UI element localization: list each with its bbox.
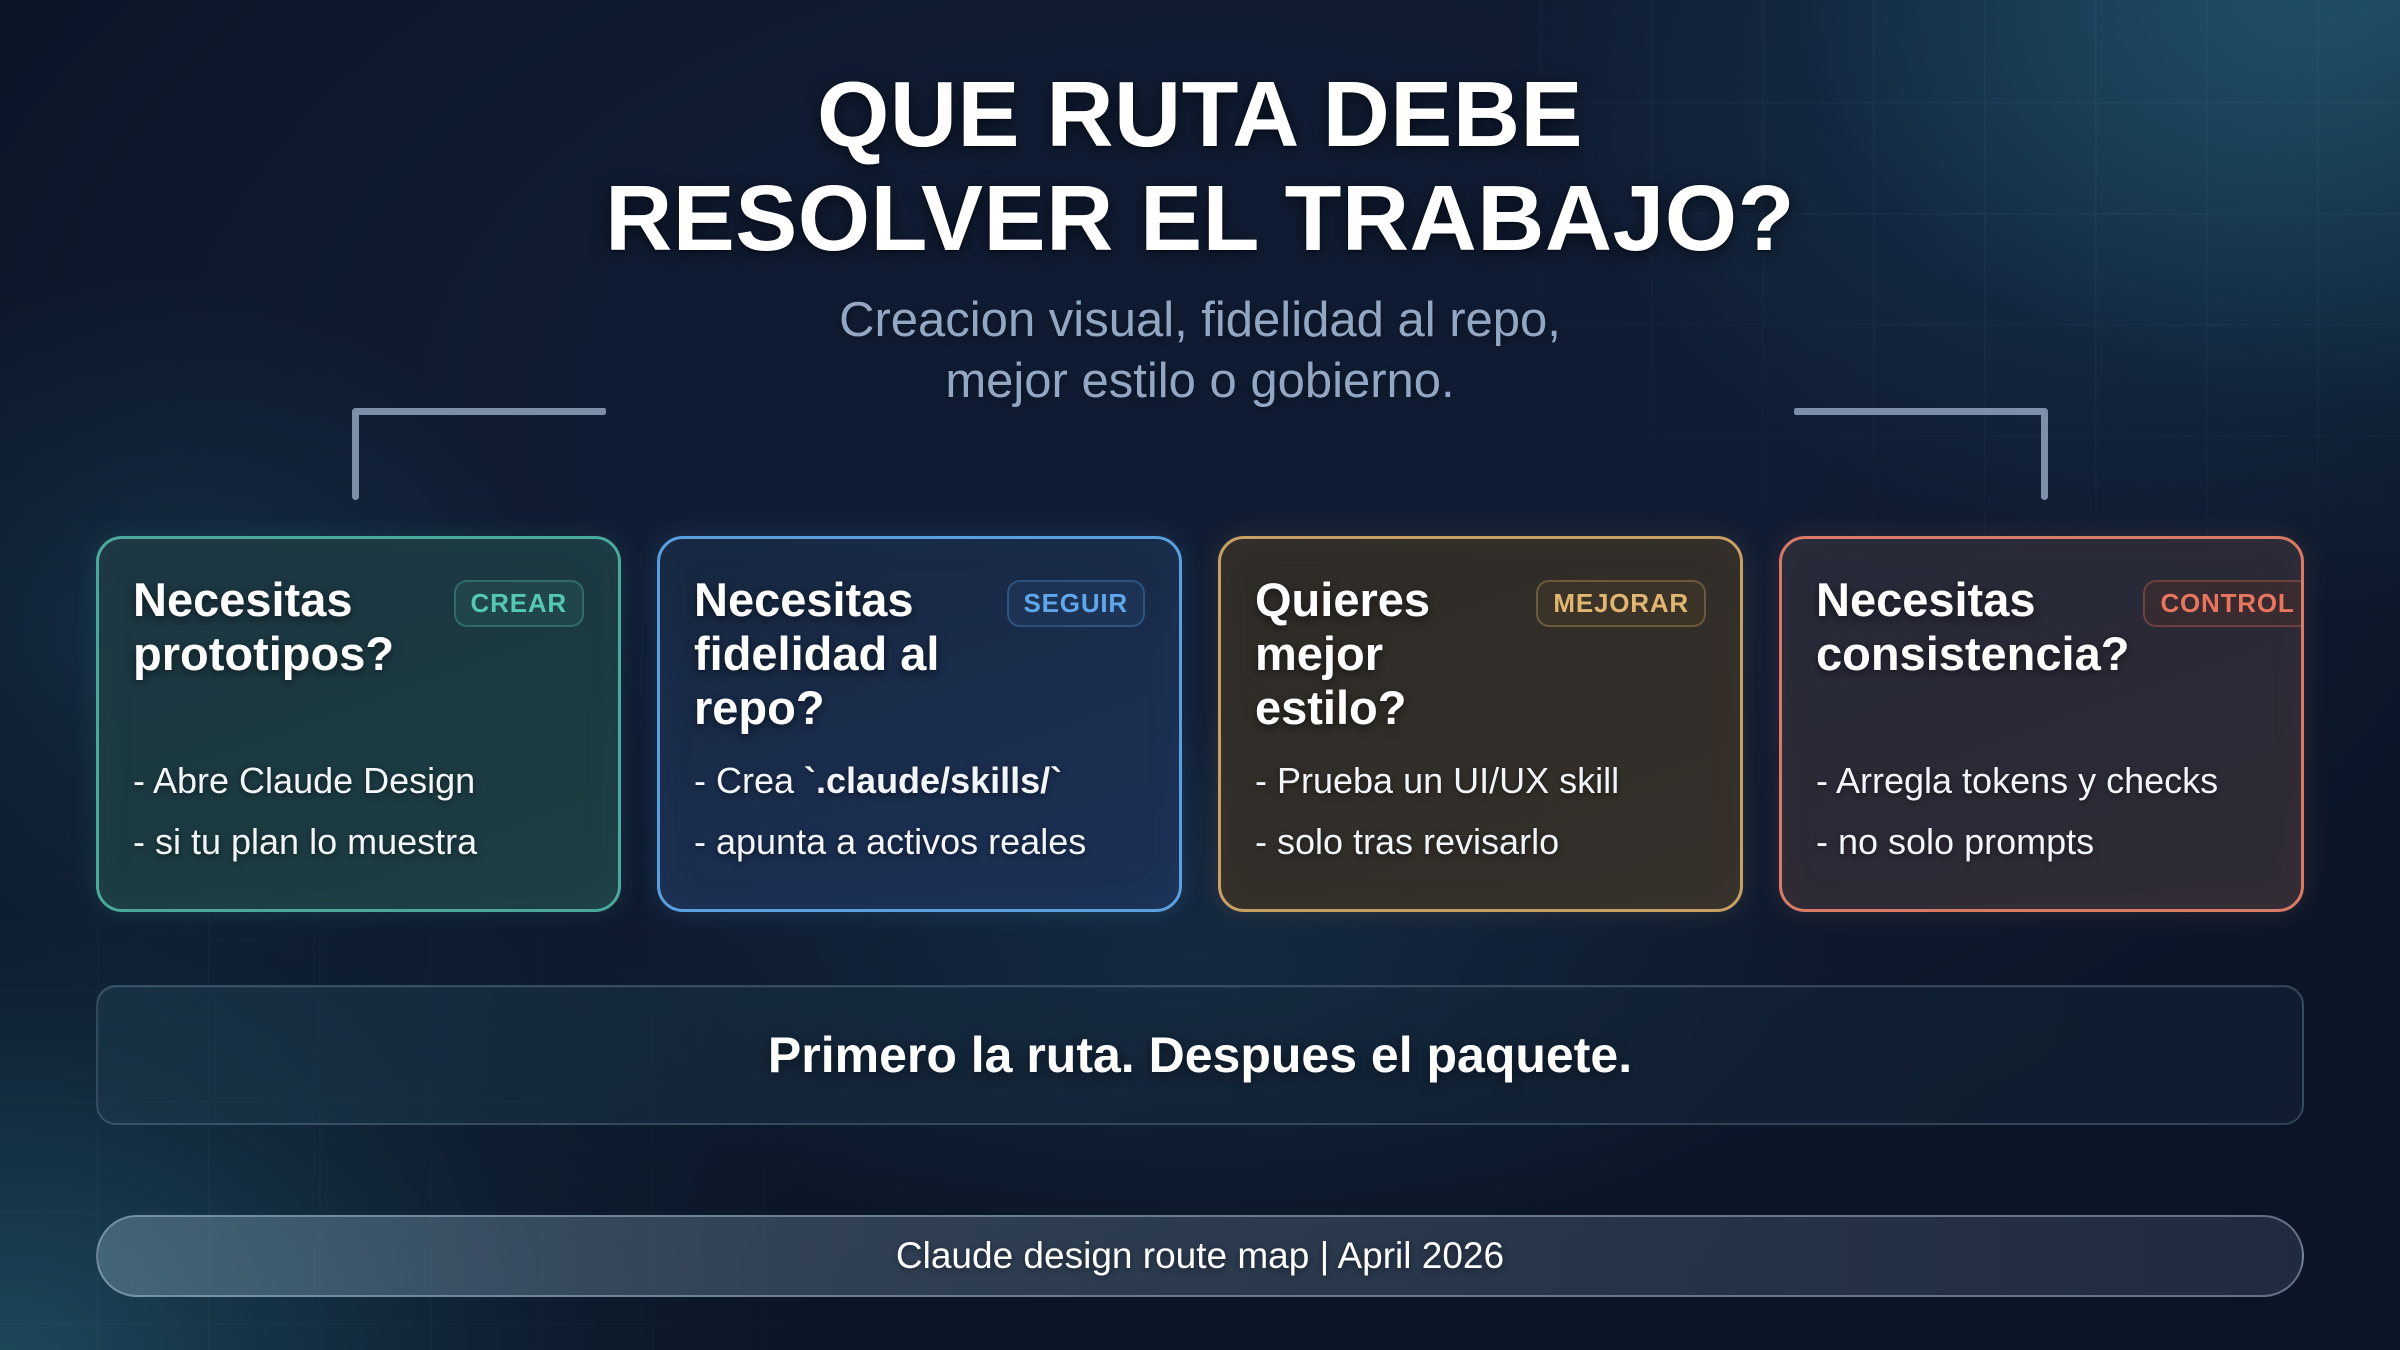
card-title: Necesitas consistencia? [1816,573,2129,681]
list-item: - Arregla tokens y checks [1816,761,2275,800]
list-item: - Prueba un UI/UX skill [1255,761,1714,800]
card-bullet-list: - Prueba un UI/UX skill - solo tras revi… [1255,761,1714,883]
card-bullet-list: - Arregla tokens y checks - no solo prom… [1816,761,2275,883]
connector-line-right [1794,408,2048,500]
card-bullet-list: - Abre Claude Design - si tu plan lo mue… [133,761,592,883]
slide-header: QUE RUTA DEBE RESOLVER EL TRABAJO? Creac… [0,62,2400,412]
status-badge: CREAR [454,580,584,627]
status-badge: CONTROL [2143,580,2304,627]
list-item: - Crea `.claude/skills/` [694,761,1153,800]
route-card-mejorar[interactable]: Quieres mejor estilo? MEJORAR - Prueba u… [1218,536,1743,912]
card-header: Quieres mejor estilo? MEJORAR [1255,573,1706,735]
list-item: - si tu plan lo muestra [133,822,592,861]
connector-line-left [352,408,606,500]
card-header: Necesitas consistencia? CONTROL [1816,573,2267,681]
list-item: - apunta a activos reales [694,822,1153,861]
route-cards-row: Necesitas prototipos? CREAR - Abre Claud… [96,536,2304,912]
page-subtitle: Creacion visual, fidelidad al repo, mejo… [0,290,2400,412]
footer-bar: Claude design route map | April 2026 [96,1215,2304,1297]
inline-code-path: `.claude/skills/` [804,760,1062,801]
footer-text: Claude design route map | April 2026 [896,1235,1504,1277]
status-badge: MEJORAR [1536,580,1706,627]
card-header: Necesitas prototipos? CREAR [133,573,584,681]
list-item: - solo tras revisarlo [1255,822,1714,861]
summary-banner-text: Primero la ruta. Despues el paquete. [768,1026,1632,1084]
route-card-seguir[interactable]: Necesitas fidelidad al repo? SEGUIR - Cr… [657,536,1182,912]
route-card-control[interactable]: Necesitas consistencia? CONTROL - Arregl… [1779,536,2304,912]
card-title: Necesitas fidelidad al repo? [694,573,993,735]
card-title: Quieres mejor estilo? [1255,573,1522,735]
list-item: - no solo prompts [1816,822,2275,861]
connector-right-vertical [2041,408,2048,500]
card-title: Necesitas prototipos? [133,573,440,681]
route-card-crear[interactable]: Necesitas prototipos? CREAR - Abre Claud… [96,536,621,912]
page-title: QUE RUTA DEBE RESOLVER EL TRABAJO? [0,62,2400,270]
list-item: - Abre Claude Design [133,761,592,800]
list-item-prefix: - Crea [694,760,804,801]
connector-left-vertical [352,408,359,500]
card-bullet-list: - Crea `.claude/skills/` - apunta a acti… [694,761,1153,883]
status-badge: SEGUIR [1007,580,1145,627]
card-header: Necesitas fidelidad al repo? SEGUIR [694,573,1145,735]
slide-canvas: QUE RUTA DEBE RESOLVER EL TRABAJO? Creac… [0,0,2400,1350]
summary-banner: Primero la ruta. Despues el paquete. [96,985,2304,1125]
